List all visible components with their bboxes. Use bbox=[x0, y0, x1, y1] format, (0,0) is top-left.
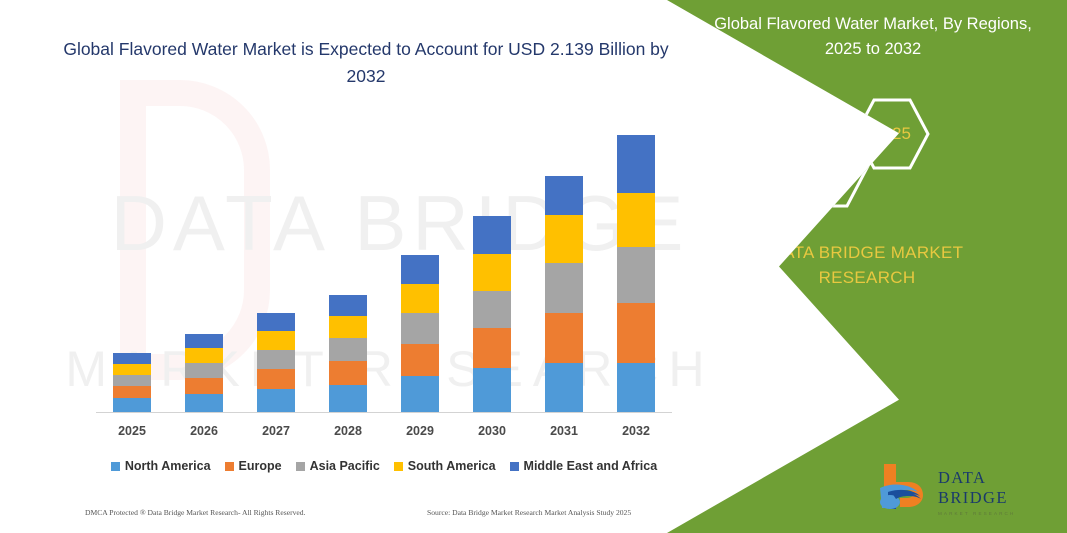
bar-segment bbox=[545, 363, 583, 412]
bar-segment bbox=[185, 363, 223, 378]
x-axis-tick-2032: 2032 bbox=[600, 424, 672, 444]
bar-segment bbox=[257, 331, 295, 350]
bar-segment bbox=[617, 303, 655, 363]
legend-label: Middle East and Africa bbox=[524, 459, 658, 473]
stacked-bar-chart bbox=[96, 110, 672, 412]
bar-segment bbox=[257, 369, 295, 389]
bar-column bbox=[600, 110, 672, 412]
bar-segment bbox=[401, 313, 439, 344]
logo-mark-icon bbox=[878, 462, 934, 510]
infographic-page: DATA BRIDGE MARKET RESEARCH Global Flavo… bbox=[0, 0, 1067, 533]
right-green-panel: Global Flavored Water Market, By Regions… bbox=[667, 0, 1067, 533]
bar-segment bbox=[329, 295, 367, 316]
bar-segment bbox=[545, 313, 583, 363]
bar-column bbox=[528, 110, 600, 412]
panel-brand-line-2: RESEARCH bbox=[685, 265, 1049, 290]
x-axis-line bbox=[96, 412, 672, 413]
legend-label: Europe bbox=[239, 459, 282, 473]
panel-brand: DATA BRIDGE MARKET RESEARCH bbox=[685, 240, 1049, 290]
panel-brand-line-1: DATA BRIDGE MARKET bbox=[685, 240, 1049, 265]
legend-label: South America bbox=[408, 459, 496, 473]
bar-segment bbox=[329, 338, 367, 361]
x-axis-tick-2030: 2030 bbox=[456, 424, 528, 444]
bar-segment bbox=[401, 344, 439, 376]
stacked-bar-2026 bbox=[185, 334, 223, 412]
legend-item[interactable]: South America bbox=[394, 459, 496, 473]
chart-legend: North AmericaEuropeAsia PacificSouth Ame… bbox=[96, 456, 672, 476]
bar-segment bbox=[545, 263, 583, 313]
stacked-bar-2031 bbox=[545, 176, 583, 412]
hexagon-2025-label: 2025 bbox=[873, 124, 911, 144]
legend-label: North America bbox=[125, 459, 211, 473]
bar-segment bbox=[185, 394, 223, 412]
stacked-bar-2027 bbox=[257, 313, 295, 412]
hexagon-outline-icon bbox=[781, 123, 871, 209]
bar-segment bbox=[329, 385, 367, 412]
bar-segment bbox=[401, 376, 439, 412]
legend-item[interactable]: Middle East and Africa bbox=[510, 459, 658, 473]
bar-column bbox=[96, 110, 168, 412]
logo-text: DATA BRIDGE MARKET RESEARCH bbox=[938, 468, 1053, 516]
bar-column bbox=[240, 110, 312, 412]
x-axis-tick-2027: 2027 bbox=[240, 424, 312, 444]
bar-segment bbox=[617, 193, 655, 247]
legend-swatch-icon bbox=[510, 462, 519, 471]
x-axis-tick-2026: 2026 bbox=[168, 424, 240, 444]
hexagon-2025: 2025 bbox=[853, 97, 931, 171]
footer-source: Source: Data Bridge Market Research Mark… bbox=[427, 508, 631, 517]
bar-column bbox=[384, 110, 456, 412]
stacked-bar-2029 bbox=[401, 255, 439, 412]
stacked-bar-2025 bbox=[113, 353, 151, 412]
bar-segment bbox=[113, 398, 151, 412]
bar-segment bbox=[473, 368, 511, 412]
bar-segment bbox=[257, 389, 295, 412]
stacked-bar-2028 bbox=[329, 295, 367, 412]
footer: DMCA Protected ® Data Bridge Market Rese… bbox=[0, 508, 700, 528]
bar-segment bbox=[401, 255, 439, 284]
bar-segment bbox=[185, 378, 223, 394]
stacked-bar-2030 bbox=[473, 216, 511, 412]
bar-segment bbox=[617, 247, 655, 303]
x-axis-tick-2028: 2028 bbox=[312, 424, 384, 444]
bar-column bbox=[456, 110, 528, 412]
hexagon-2032-label: 2032 bbox=[807, 156, 845, 176]
data-bridge-logo: DATA BRIDGE MARKET RESEARCH bbox=[878, 462, 1053, 510]
legend-swatch-icon bbox=[225, 462, 234, 471]
footer-copyright: DMCA Protected ® Data Bridge Market Rese… bbox=[85, 508, 305, 517]
legend-label: Asia Pacific bbox=[310, 459, 380, 473]
bar-segment bbox=[329, 361, 367, 385]
bar-segment bbox=[185, 348, 223, 363]
bar-segment bbox=[545, 215, 583, 263]
x-axis-tick-2025: 2025 bbox=[96, 424, 168, 444]
bar-segment bbox=[545, 176, 583, 215]
stacked-bar-2032 bbox=[617, 135, 655, 412]
legend-swatch-icon bbox=[111, 462, 120, 471]
logo-name: DATA BRIDGE bbox=[938, 468, 1053, 508]
legend-item[interactable]: Asia Pacific bbox=[296, 459, 380, 473]
bar-segment bbox=[113, 386, 151, 398]
hexagon-outline-icon bbox=[853, 97, 931, 171]
legend-swatch-icon bbox=[394, 462, 403, 471]
hexagon-2032: 2032 bbox=[781, 123, 871, 209]
chart-title: Global Flavored Water Market is Expected… bbox=[60, 36, 672, 90]
bar-column bbox=[168, 110, 240, 412]
bar-segment bbox=[617, 135, 655, 193]
x-axis-tick-2031: 2031 bbox=[528, 424, 600, 444]
bar-segment bbox=[329, 316, 367, 338]
x-axis-labels: 20252026202720282029203020312032 bbox=[96, 424, 672, 444]
bar-segment bbox=[113, 364, 151, 375]
x-axis-tick-2029: 2029 bbox=[384, 424, 456, 444]
bar-column bbox=[312, 110, 384, 412]
bar-segment bbox=[113, 375, 151, 386]
panel-title: Global Flavored Water Market, By Regions… bbox=[697, 12, 1049, 62]
bar-segment bbox=[473, 254, 511, 291]
bar-segment bbox=[401, 284, 439, 313]
bar-segment bbox=[185, 334, 223, 348]
legend-item[interactable]: North America bbox=[111, 459, 211, 473]
bar-segment bbox=[473, 291, 511, 328]
bar-segment bbox=[617, 363, 655, 412]
bar-segment bbox=[257, 350, 295, 369]
bar-segment bbox=[257, 313, 295, 331]
logo-subtitle: MARKET RESEARCH bbox=[938, 511, 1053, 516]
legend-item[interactable]: Europe bbox=[225, 459, 282, 473]
bar-segment bbox=[473, 328, 511, 368]
bar-segment bbox=[113, 353, 151, 364]
bar-segment bbox=[473, 216, 511, 254]
hexagon-group: 2032 2025 bbox=[767, 95, 957, 215]
legend-swatch-icon bbox=[296, 462, 305, 471]
